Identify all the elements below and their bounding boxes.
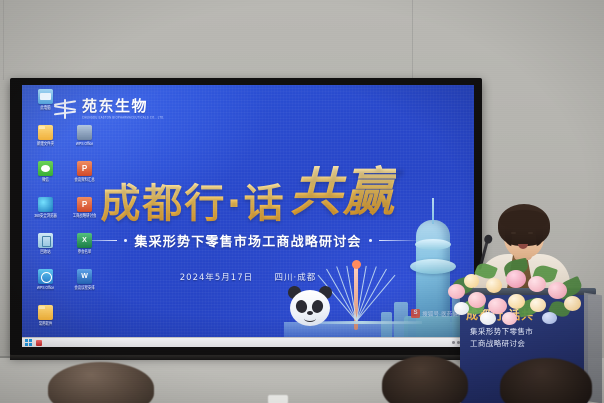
desktop-icon-label: 会议议程安排 — [74, 285, 94, 291]
excel-file-icon — [77, 233, 92, 248]
desktop-icon-label: WPS Office — [37, 285, 54, 291]
desktop-icon-grid: 此电脑 新建文件夹 WPS Office 微信 会议资料汇总 360安 — [26, 89, 104, 347]
word-file-icon — [77, 269, 92, 284]
desktop-icon[interactable]: WPS Office — [26, 269, 65, 305]
recycle-bin-icon — [38, 233, 53, 248]
desktop-icon[interactable]: 参会名单 — [65, 233, 104, 269]
wechat-icon — [38, 161, 53, 176]
folder-icon — [38, 305, 53, 320]
desktop-icon-label: 工商战略研讨会 — [73, 213, 97, 219]
powerpoint-file-icon — [77, 161, 92, 176]
taskbar-pdf-icon[interactable] — [36, 340, 42, 346]
speaker-fringe — [500, 210, 548, 228]
desktop-icon-label: 常用软件 — [39, 321, 53, 327]
desktop-icon[interactable]: 360安全浏览器 — [26, 197, 65, 233]
desktop-icon[interactable]: 会议议程安排 — [65, 269, 104, 305]
audience-paper — [268, 395, 288, 403]
desktop-icon[interactable]: 微信 — [26, 161, 65, 197]
folder-icon — [38, 125, 53, 140]
desktop-icon[interactable]: 回收站 — [26, 233, 65, 269]
desktop-icon-label: 微信 — [42, 177, 49, 183]
wall-panel-seam-left — [3, 0, 4, 80]
desktop-icon[interactable]: 工商战略研讨会 — [65, 197, 104, 233]
windows-taskbar[interactable]: 15:42 — [22, 337, 474, 347]
app-icon — [77, 125, 92, 140]
podium-subtitle-line2: 工商战略研讨会 — [470, 338, 586, 349]
speaker-eye-right — [528, 232, 533, 234]
desktop-icon-label: 参会名单 — [78, 249, 92, 255]
desktop-icon-label: WPS Office — [76, 141, 93, 147]
desktop-icon-label: 会议资料汇总 — [74, 177, 94, 183]
floral-arrangement — [446, 254, 596, 326]
display-screen[interactable]: 苑东生物 CHENGDU EASTON BIOPHARMACEUTICALS C… — [22, 85, 474, 347]
desktop-icon[interactable]: 常用软件 — [26, 305, 65, 341]
desktop-icon[interactable]: WPS Office — [65, 125, 104, 161]
podium-subtitle-line1: 集采形势下零售市 — [470, 326, 586, 337]
start-button-icon[interactable] — [25, 339, 32, 346]
desktop-icon[interactable]: 会议资料汇总 — [65, 161, 104, 197]
desktop-icon[interactable]: 此电脑 — [26, 89, 65, 125]
desktop-icon[interactable]: 新建文件夹 — [26, 125, 65, 161]
powerpoint-file-icon — [77, 197, 92, 212]
conference-room-photo: 苑东生物 CHENGDU EASTON BIOPHARMACEUTICALS C… — [0, 0, 604, 403]
this-pc-icon — [38, 89, 53, 104]
audience-head — [382, 356, 468, 403]
desktop-icon-label: 此电脑 — [40, 105, 50, 111]
browser-icon — [38, 197, 53, 212]
speaker-eye-left — [511, 232, 516, 234]
desktop-icon-label: 新建文件夹 — [37, 141, 54, 147]
desktop-icon-label: 回收站 — [40, 249, 50, 255]
desktop-icon-label: 360安全浏览器 — [34, 213, 57, 219]
wps-office-icon — [38, 269, 53, 284]
